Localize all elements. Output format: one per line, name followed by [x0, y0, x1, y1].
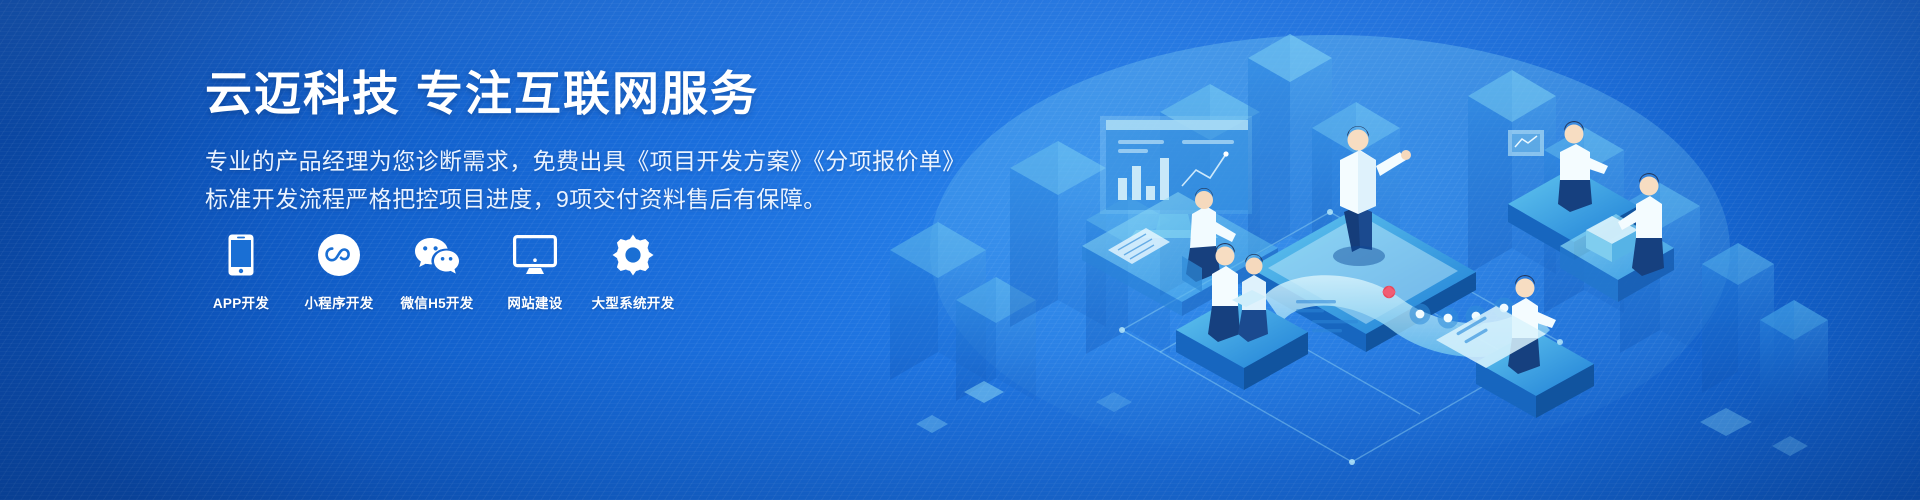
page-title: 云迈科技 专注互联网服务 — [205, 66, 905, 121]
service-label: 小程序开发 — [305, 292, 374, 312]
service-label: APP开发 — [213, 292, 269, 312]
service-label: 微信H5开发 — [400, 292, 473, 312]
isometric-illustration — [860, 0, 1920, 500]
service-item-wechat-h5[interactable]: 微信H5开发 — [401, 232, 473, 312]
mobile-phone-icon — [228, 232, 254, 278]
mini-program-icon — [318, 232, 360, 278]
monitor-icon — [513, 232, 557, 278]
service-item-large-system[interactable]: 大型系统开发 — [597, 232, 669, 312]
service-label: 网站建设 — [507, 292, 562, 312]
banner-copy: 云迈科技 专注互联网服务 专业的产品经理为您诊断需求，免费出具《项目开发方案》《… — [205, 66, 905, 218]
hero-banner: 云迈科技 专注互联网服务 专业的产品经理为您诊断需求，免费出具《项目开发方案》《… — [0, 0, 1920, 500]
subtitle-line-2: 标准开发流程严格把控项目进度，9项交付资料售后有保障。 — [205, 181, 905, 218]
gear-icon — [612, 232, 654, 278]
service-item-website[interactable]: 网站建设 — [499, 232, 571, 312]
service-label: 大型系统开发 — [592, 292, 675, 312]
wechat-icon — [413, 232, 461, 278]
service-item-miniprogram[interactable]: 小程序开发 — [303, 232, 375, 312]
subtitle-line-1: 专业的产品经理为您诊断需求，免费出具《项目开发方案》《分项报价单》 — [205, 143, 905, 180]
service-item-app[interactable]: APP开发 — [205, 232, 277, 312]
service-list: APP开发 小程序开发 微信 — [205, 232, 695, 312]
